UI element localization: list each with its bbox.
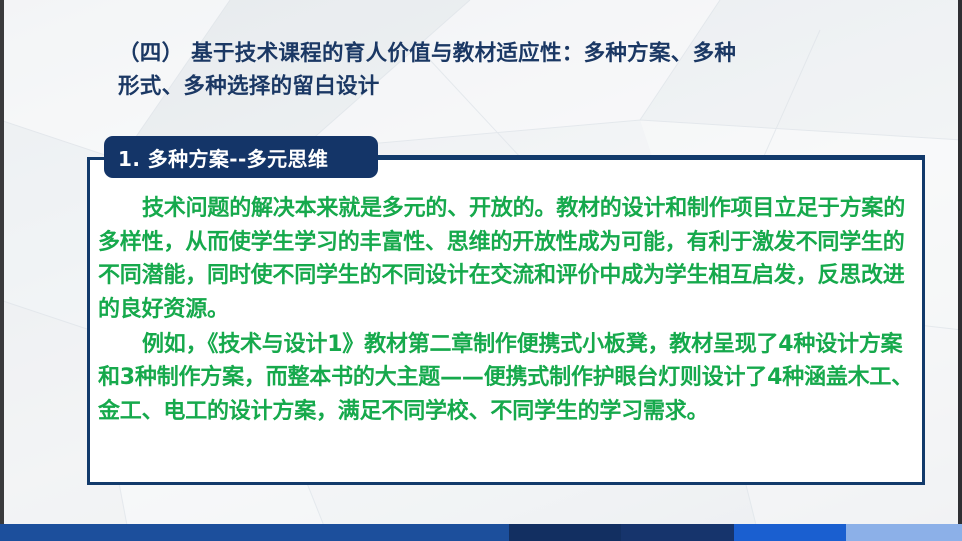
body-paragraph-2: 例如，《技术与设计1》教材第二章制作便携式小板凳，教材呈现了4种设计方案和3种制… — [98, 328, 921, 429]
section-badge-label: 1. 多种方案--多元思维 — [118, 143, 328, 172]
bar-segment-1 — [509, 524, 621, 541]
left-edge-strip — [0, 0, 4, 541]
body-text-block: 技术问题的解决本来就是多元的、开放的。教材的设计和制作项目立足于方案的多样性，从… — [93, 192, 925, 429]
section-badge: 1. 多种方案--多元思维 — [104, 136, 378, 178]
right-edge-strip — [958, 0, 962, 541]
bar-segment-4 — [846, 524, 962, 541]
bar-segment-3 — [734, 524, 846, 541]
bar-segment-0 — [0, 524, 509, 541]
body-paragraph-1: 技术问题的解决本来就是多元的、开放的。教材的设计和制作项目立足于方案的多样性，从… — [98, 192, 921, 327]
page-title: （四） 基于技术课程的育人价值与教材适应性：多种方案、多种 形式、多种选择的留白… — [118, 38, 918, 103]
slide-canvas: （四） 基于技术课程的育人价值与教材适应性：多种方案、多种 形式、多种选择的留白… — [0, 0, 962, 541]
bar-segment-2 — [621, 524, 734, 541]
bottom-color-bar — [0, 524, 962, 541]
